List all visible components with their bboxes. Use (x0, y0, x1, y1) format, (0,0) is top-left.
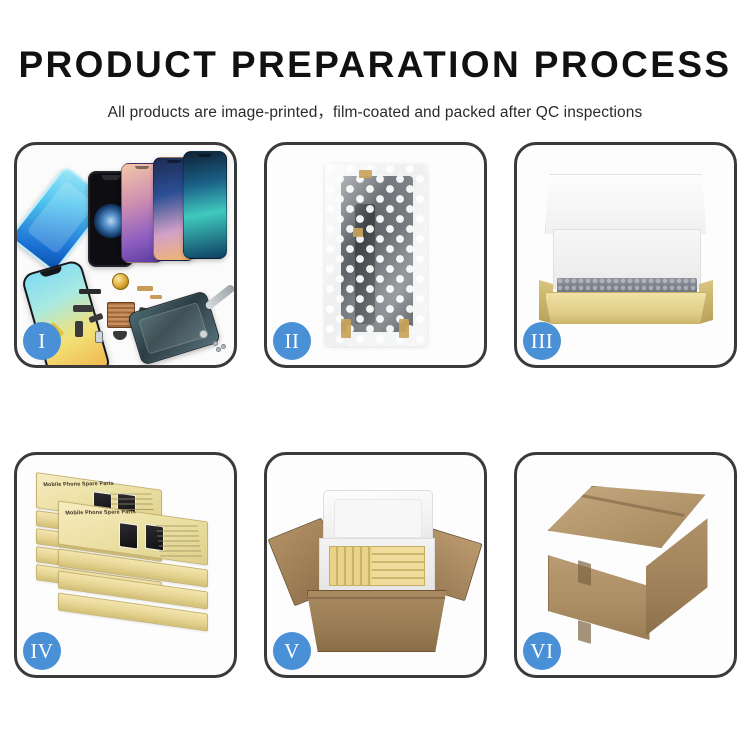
steps-row-bottom: Mobile Phone Spare Parts Mobile Phone Sp… (14, 452, 736, 678)
phone-teal-icon (183, 151, 227, 259)
gold-flex-icon (150, 295, 162, 299)
speaker-part-icon (79, 289, 101, 294)
tape-middle-icon (353, 228, 363, 237)
product-preparation-infographic: PRODUCT PREPARATION PROCESS All products… (0, 0, 750, 750)
screws-icon (213, 341, 231, 351)
step-badge-1: I (23, 322, 61, 360)
header: PRODUCT PREPARATION PROCESS All products… (0, 0, 750, 122)
flex-cable-icon (73, 305, 93, 312)
inner-yellow-boxes-icon (329, 546, 425, 586)
sim-tray-icon (95, 331, 103, 343)
box-spec-lines (155, 525, 201, 559)
open-carton-icon (281, 476, 471, 654)
carton-tape-lower-icon (578, 620, 591, 644)
carton-left-face-icon (548, 528, 650, 640)
tape-top-icon (359, 170, 372, 178)
stacked-boxes-icon: Mobile Phone Spare Parts Mobile Phone Sp… (28, 475, 224, 655)
step-badge-3: III (523, 322, 561, 360)
step-badge-5: V (273, 632, 311, 670)
tweezers-icon (204, 283, 234, 310)
box-label-text: Mobile Phone Spare Parts (43, 481, 114, 488)
page-title: PRODUCT PREPARATION PROCESS (0, 46, 750, 83)
step-badge-6: VI (523, 632, 561, 670)
carton-body-icon (307, 590, 447, 652)
steps-row-top: I II (14, 142, 736, 368)
earpiece-icon (113, 331, 127, 340)
bubble-wrap-package-icon (325, 164, 427, 346)
tape-bottom-left-icon (341, 319, 351, 338)
step-panel-2[interactable]: II (264, 142, 487, 368)
tape-bottom-right-icon (399, 319, 409, 338)
page-subtitle: All products are image-printed，film-coat… (0, 100, 750, 122)
sealed-carton-icon (536, 486, 716, 644)
steps-grid: I II (14, 142, 736, 678)
step-panel-3[interactable]: III (514, 142, 737, 368)
box-screen-image (119, 522, 138, 550)
step-panel-5[interactable]: V (264, 452, 487, 678)
step-badge-4: IV (23, 632, 61, 670)
open-mailer-box-icon (531, 174, 721, 336)
step-panel-6[interactable]: VI (514, 452, 737, 678)
box-label-text: Mobile Phone Spare Parts (65, 509, 136, 516)
vibration-motor-icon (112, 273, 129, 290)
carton-tape-upper-icon (578, 560, 591, 586)
step-panel-1[interactable]: I (14, 142, 237, 368)
flex-cable-vertical-icon (75, 321, 83, 337)
gold-connector-icon (137, 286, 153, 291)
box-lid-icon (545, 174, 707, 234)
step-panel-4[interactable]: Mobile Phone Spare Parts Mobile Phone Sp… (14, 452, 237, 678)
box-front-panel-icon (545, 292, 707, 324)
step-badge-2: II (273, 322, 311, 360)
